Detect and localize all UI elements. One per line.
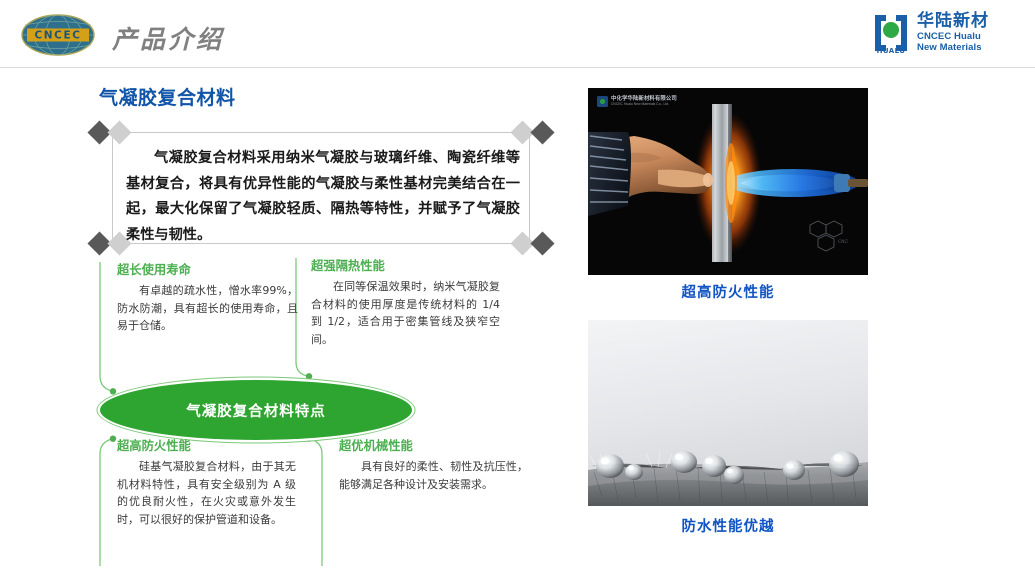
brand-name-en-line1: CNCEC Hualu bbox=[917, 31, 989, 42]
svg-text:CNCEC Hualu: CNCEC Hualu bbox=[838, 239, 848, 245]
brand-name-cn: 华陆新材 bbox=[917, 13, 989, 31]
corner-diamond-dark-top-right bbox=[530, 120, 554, 144]
feature-title-mechanical: 超优机械性能 bbox=[339, 438, 528, 455]
feature-card-life: 超长使用寿命 有卓越的疏水性，憎水率99%，防水防潮，具有超长的使用寿命，且易于… bbox=[106, 262, 298, 335]
photo-caption-water: 防水性能优越 bbox=[588, 515, 868, 536]
hualu-mark-icon: HUALU bbox=[871, 12, 911, 54]
corner-diamond-dark-bottom-right bbox=[530, 231, 554, 255]
feature-card-fire: 超高防火性能 硅基气凝胶复合材料，由于其无机材料特性，具有安全级别为 A 级的优… bbox=[106, 438, 296, 528]
slide-header: CNCEC 产品介绍 HUALU 华陆新材 CNCEC Hualu New Ma… bbox=[0, 0, 1035, 68]
intro-box-rule-top bbox=[112, 132, 530, 133]
photo-caption-fire: 超高防火性能 bbox=[588, 281, 868, 302]
intro-box-rule-left bbox=[112, 132, 113, 244]
feature-body-life: 有卓越的疏水性，憎水率99%，防水防潮，具有超长的使用寿命，且易于仓储。 bbox=[117, 282, 298, 335]
page-title: 产品介绍 bbox=[112, 20, 224, 56]
section-heading: 气凝胶复合材料 bbox=[99, 83, 236, 110]
cncec-globe-logo: CNCEC bbox=[20, 13, 96, 57]
feature-title-insulation: 超强隔热性能 bbox=[311, 258, 500, 275]
feature-body-insulation: 在同等保温效果时，纳米气凝胶复合材料的使用厚度是传统材料的 1/4 到 1/2，… bbox=[311, 278, 500, 348]
svg-text:HUALU: HUALU bbox=[877, 47, 906, 54]
photo-ghost-logo-icon: CNCEC Hualu bbox=[804, 217, 848, 259]
watermark-text-en: CNCEC Hualu New Materials Co., Ltd. bbox=[611, 103, 677, 106]
feature-title-life: 超长使用寿命 bbox=[117, 262, 298, 279]
intro-box-rule-right bbox=[529, 132, 530, 244]
intro-paragraph: 气凝胶复合材料采用纳米气凝胶与玻璃纤维、陶瓷纤维等基材复合，将具有优异性能的气凝… bbox=[126, 146, 520, 248]
photo-watermark: 中化学华陆新材料有限公司 CNCEC Hualu New Materials C… bbox=[597, 96, 677, 107]
feature-card-mechanical: 超优机械性能 具有良好的柔性、韧性及抗压性，能够满足各种设计及安装需求。 bbox=[328, 438, 528, 493]
header-divider bbox=[0, 67, 1035, 68]
photo-water-repellency bbox=[588, 320, 868, 506]
hualu-brand-logo: HUALU 华陆新材 CNCEC Hualu New Materials bbox=[871, 9, 1021, 57]
intro-textbox: 气凝胶复合材料采用纳米气凝胶与玻璃纤维、陶瓷纤维等基材复合，将具有优异性能的气凝… bbox=[92, 124, 550, 252]
diagram-center-ellipse: 气凝胶复合材料特点 bbox=[100, 380, 412, 440]
cncec-logo-letters: CNCEC bbox=[34, 30, 81, 42]
features-diagram: 超长使用寿命 有卓越的疏水性，憎水率99%，防水防潮，具有超长的使用寿命，且易于… bbox=[92, 258, 572, 570]
watermark-logo-icon bbox=[597, 96, 608, 107]
feature-body-mechanical: 具有良好的柔性、韧性及抗压性，能够满足各种设计及安装需求。 bbox=[339, 458, 528, 493]
feature-body-fire: 硅基气凝胶复合材料，由于其无机材料特性，具有安全级别为 A 级的优良耐火性，在火… bbox=[117, 458, 296, 528]
slide: CNCEC 产品介绍 HUALU 华陆新材 CNCEC Hualu New Ma… bbox=[0, 0, 1035, 584]
diagram-center-label: 气凝胶复合材料特点 bbox=[186, 400, 326, 421]
feature-card-insulation: 超强隔热性能 在同等保温效果时，纳米气凝胶复合材料的使用厚度是传统材料的 1/4… bbox=[300, 258, 500, 348]
photo-fire-resistance: 中化学华陆新材料有限公司 CNCEC Hualu New Materials C… bbox=[588, 88, 868, 275]
brand-name-en-line2: New Materials bbox=[917, 42, 989, 53]
feature-title-fire: 超高防火性能 bbox=[117, 438, 296, 455]
